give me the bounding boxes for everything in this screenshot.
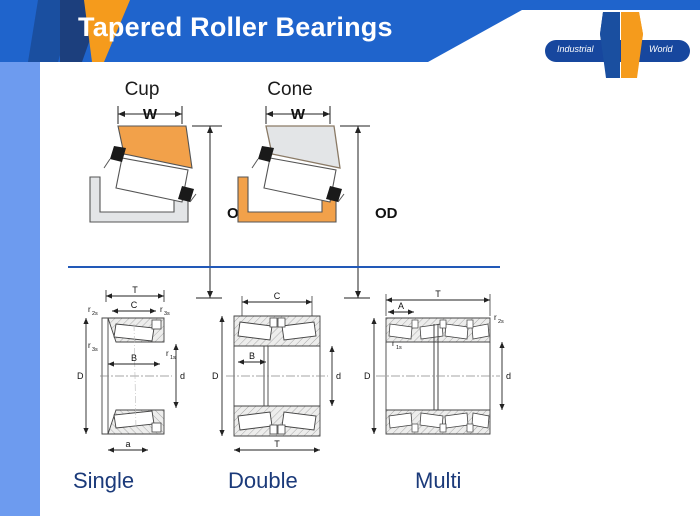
cone-od-label: OD (375, 205, 398, 222)
single-label-a: a (125, 439, 130, 449)
cone-diagram: W OD (218, 102, 388, 312)
multi-label-r2s: r (494, 313, 497, 322)
double-label-B: B (249, 351, 255, 361)
left-sidebar-accent (0, 62, 40, 516)
svg-text:1s: 1s (396, 345, 402, 351)
cup-diagram: W OD (70, 102, 240, 312)
section-divider (68, 266, 500, 268)
double-label-C: C (274, 291, 281, 301)
slide-content: Cup W OD (40, 62, 700, 516)
logo-text-industrial: Industrial (557, 44, 594, 54)
single-label-T: T (132, 285, 138, 295)
cup-width-label: W (143, 106, 158, 123)
single-label-C: C (131, 300, 138, 310)
double-caption: Double (228, 468, 298, 494)
single-caption: Single (73, 468, 134, 494)
cone-title: Cone (245, 79, 335, 101)
logo-text-world: World (649, 44, 673, 54)
cone-width-label: W (291, 106, 306, 123)
double-bearing-diagram: C B (208, 284, 368, 469)
single-label-r3s-top: r (160, 305, 163, 314)
multi-label-D: D (364, 371, 371, 381)
double-label-T: T (274, 439, 280, 449)
double-label-D: D (212, 371, 219, 381)
single-bearing-diagram: T C r 2s r 3s (64, 284, 224, 469)
double-label-d: d (336, 371, 341, 381)
cup-title: Cup (102, 79, 182, 101)
single-label-r2s: r (88, 305, 91, 314)
multi-caption: Multi (415, 468, 461, 494)
single-label-D: D (77, 371, 84, 381)
single-label-r3s-left: r (88, 341, 91, 350)
svg-text:1s: 1s (170, 355, 176, 361)
svg-text:3s: 3s (164, 311, 170, 317)
multi-label-T: T (435, 289, 441, 299)
multi-bearing-diagram: T A r 2s r 1s (358, 284, 528, 469)
svg-text:3s: 3s (92, 347, 98, 353)
multi-label-A: A (398, 301, 404, 311)
svg-text:2s: 2s (92, 311, 98, 317)
svg-text:2s: 2s (498, 319, 504, 325)
single-label-d: d (180, 371, 185, 381)
single-label-B: B (131, 353, 137, 363)
single-label-r1s: r (166, 349, 169, 358)
multi-label-d: d (506, 371, 511, 381)
page-title: Tapered Roller Bearings (78, 12, 393, 43)
